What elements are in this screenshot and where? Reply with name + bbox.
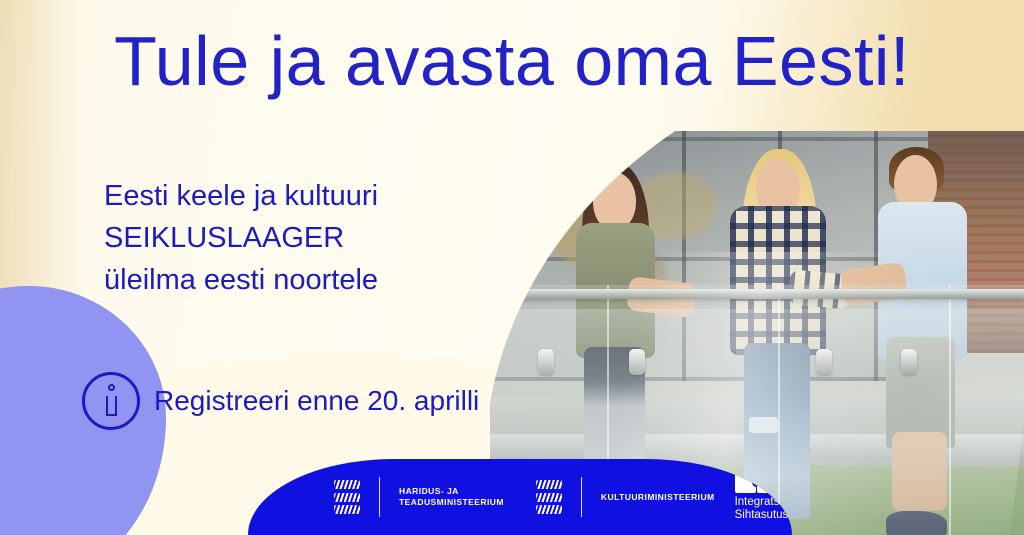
- puzzle-piece: [757, 472, 778, 493]
- ministry-name-label: Haridus- ja Teadusministeerium: [399, 486, 504, 508]
- head: [593, 172, 637, 230]
- lion-icon: [536, 493, 562, 502]
- body-line-1: Eesti keele ja kultuuri: [104, 175, 378, 217]
- photo-rail-clamp: [629, 349, 645, 375]
- footer-logo-bar: Haridus- ja Teadusministeerium Kultuurim…: [248, 459, 792, 535]
- body-line-3: üleilma eesti noortele: [104, 259, 378, 301]
- ministry-name-label: Kultuuriministeerium: [601, 492, 715, 503]
- lion-icon: [536, 480, 562, 489]
- page-title: Tule ja avasta oma Eesti!: [0, 22, 1024, 100]
- puzzle-piece: [735, 472, 756, 493]
- photo-rail-clamp: [816, 349, 832, 375]
- photo-glass-seam: [949, 285, 951, 535]
- photo-rail-clamp: [901, 349, 917, 375]
- puzzle-piece: [779, 472, 792, 493]
- lion-icon: [334, 505, 360, 514]
- registration-deadline-text: Registreeri enne 20. aprilli: [154, 384, 479, 418]
- photo-handrail: [490, 289, 1024, 300]
- logo-haridus-ja-teadusministeerium: Haridus- ja Teadusministeerium: [334, 459, 504, 535]
- body-copy: Eesti keele ja kultuuri SEIKLUSLAAGER ül…: [104, 175, 378, 301]
- photo-rail-clamp: [538, 349, 554, 375]
- logo-kultuuriministeerium: Kultuuriministeerium: [536, 459, 715, 535]
- body-line-2: SEIKLUSLAAGER: [104, 217, 378, 259]
- lion-icon: [536, 505, 562, 514]
- photo-glass-seam: [778, 285, 780, 535]
- info-icon: [82, 372, 140, 430]
- lion-icon: [334, 480, 360, 489]
- poster-canvas: Tule ja avasta oma Eesti! Eesti keele ja…: [0, 0, 1024, 535]
- estonian-coat-of-arms-icon: [536, 480, 562, 514]
- logo-divider: [379, 477, 380, 517]
- puzzle-pieces-icon: [735, 472, 792, 493]
- registration-row: Registreeri enne 20. aprilli: [82, 372, 479, 430]
- lion-icon: [334, 493, 360, 502]
- logo-divider: [581, 477, 582, 517]
- estonian-coat-of-arms-icon: [334, 480, 360, 514]
